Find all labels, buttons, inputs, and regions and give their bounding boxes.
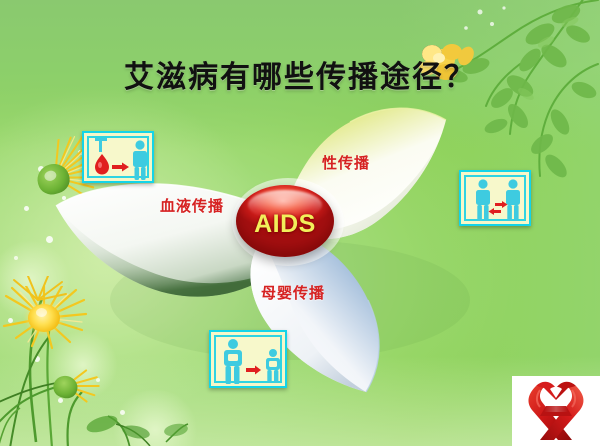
- aids-label: AIDS: [236, 185, 334, 257]
- red-awareness-ribbon-panel: [512, 376, 600, 446]
- blood-transfusion-icon: [82, 131, 154, 183]
- slide-canvas: 艾滋病有哪些传播途径？: [0, 0, 600, 446]
- label-sexual-transmission: 性传播: [322, 152, 370, 173]
- label-blood-transmission: 血液传播: [160, 195, 224, 216]
- aids-center-node: AIDS: [236, 185, 334, 257]
- mother-child-icon: [209, 330, 287, 388]
- two-people-icon: [459, 170, 531, 226]
- label-mother-to-child-transmission: 母婴传播: [261, 282, 325, 303]
